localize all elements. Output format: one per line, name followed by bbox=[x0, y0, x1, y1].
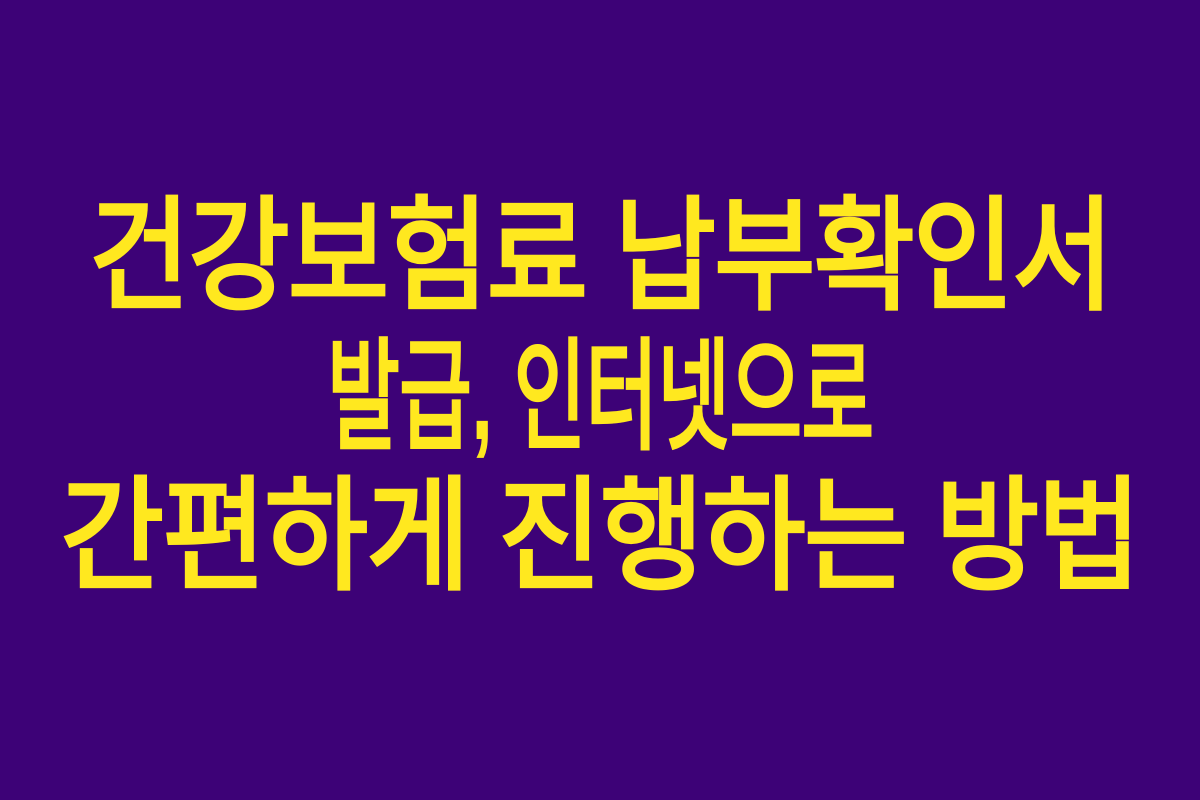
headline-line-3: 간편하게 진행하는 방법 bbox=[60, 467, 1139, 607]
thumbnail-card: 건강보험료 납부확인서 발급, 인터넷으로 간편하게 진행하는 방법 bbox=[0, 0, 1200, 800]
headline-block: 건강보험료 납부확인서 발급, 인터넷으로 간편하게 진행하는 방법 bbox=[0, 187, 1200, 607]
headline-line-2: 발급, 인터넷으로 bbox=[327, 327, 873, 467]
headline-line-1: 건강보험료 납부확인서 bbox=[89, 187, 1112, 327]
